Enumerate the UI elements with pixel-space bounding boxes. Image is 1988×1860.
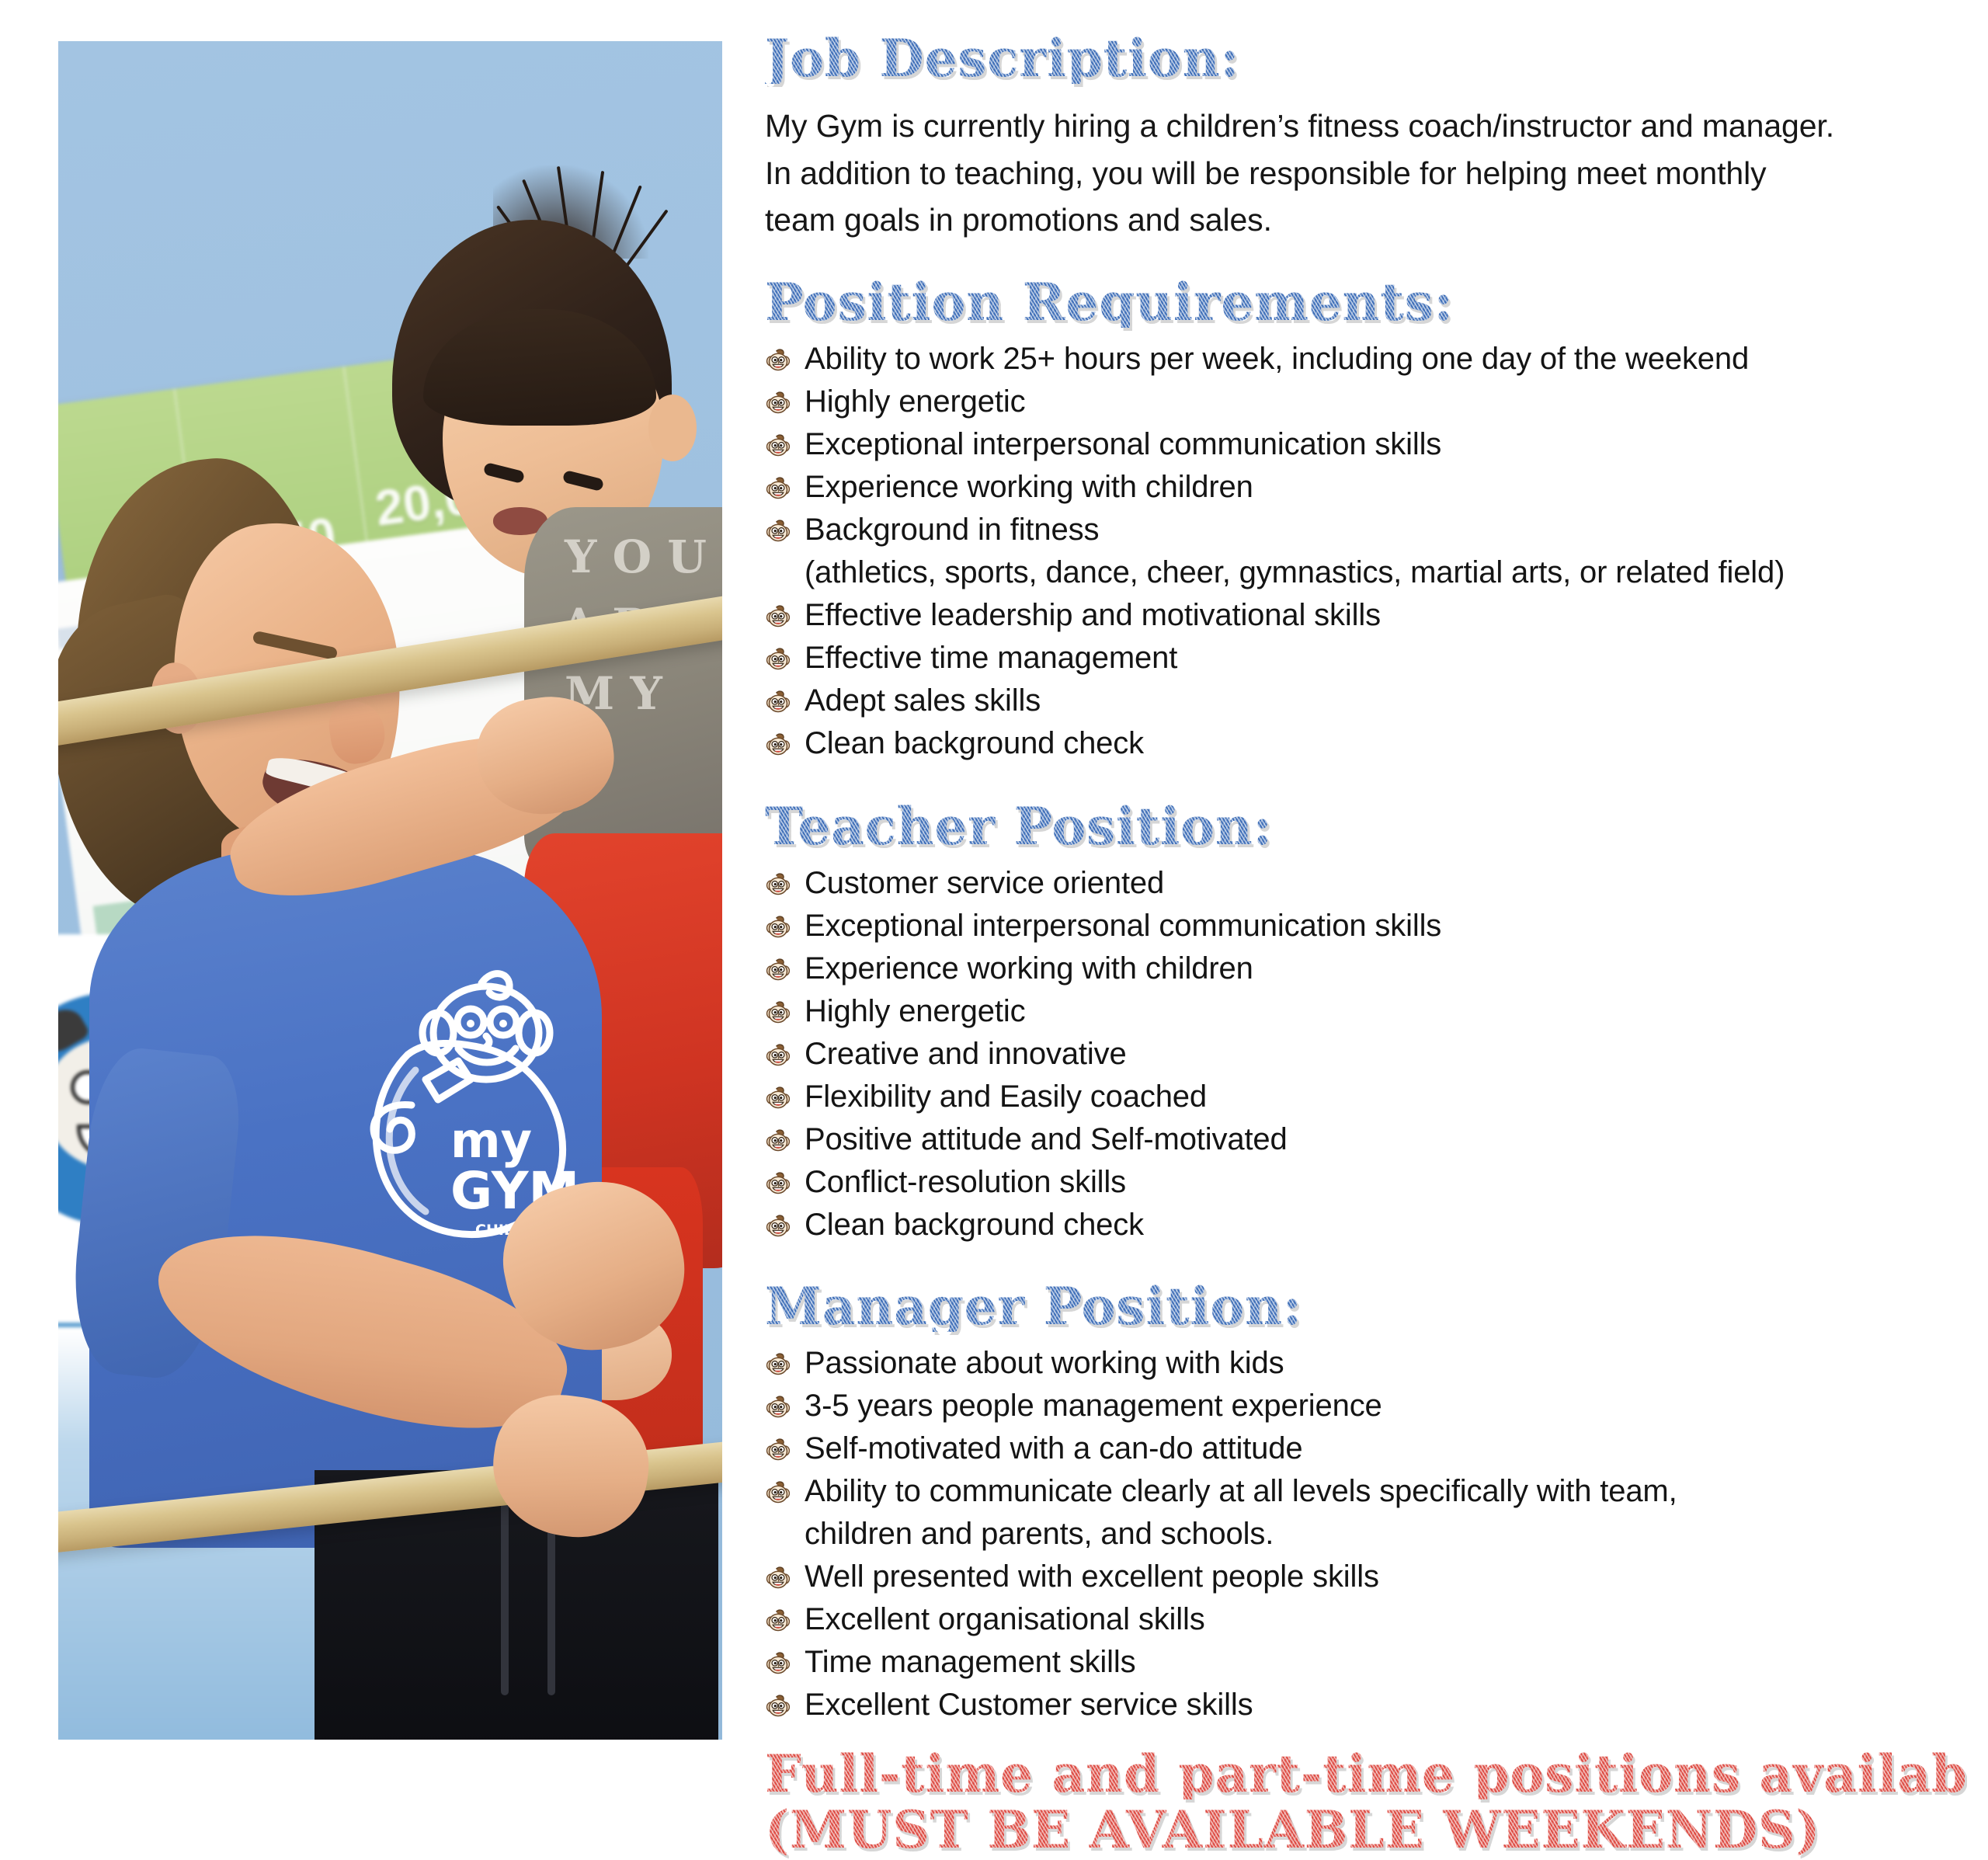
heading-job-description: Job Description: — [765, 33, 1965, 84]
list-item-label: Positive attitude and Self-motivated — [805, 1119, 1288, 1159]
list-item: Exceptional interpersonal communication … — [765, 424, 1965, 464]
monkey-mascot-icon — [765, 1604, 791, 1631]
intro-line-1: My Gym is currently hiring a children’s … — [765, 103, 1965, 150]
list-item-label: Ability to work 25+ hours per week, incl… — [805, 339, 1749, 379]
list-item: Self-motivated with a can-do attitude — [765, 1428, 1965, 1469]
list-item-label: Adept sales skills — [805, 680, 1041, 721]
list-teacher-position: Customer service orientedExceptional int… — [765, 863, 1965, 1245]
intro-line-2: In addition to teaching, you will be res… — [765, 150, 1965, 197]
list-item-label: Self-motivated with a can-do attitude — [805, 1428, 1302, 1469]
monkey-mascot-icon — [765, 344, 791, 370]
list-item: Experience working with children — [765, 948, 1965, 989]
list-item: Excellent organisational skills — [765, 1599, 1965, 1639]
list-item: Positive attitude and Self-motivated — [765, 1119, 1965, 1159]
monkey-mascot-icon — [765, 1348, 791, 1375]
list-position-requirements: Ability to work 25+ hours per week, incl… — [765, 339, 1965, 763]
list-item: Customer service oriented — [765, 863, 1965, 903]
list-item: Clean background check — [765, 723, 1965, 763]
list-item-label: Ability to communicate clearly at all le… — [805, 1471, 1677, 1511]
list-item: Passionate about working with kids — [765, 1343, 1965, 1383]
monkey-mascot-icon — [765, 1647, 791, 1674]
list-item: Clean background check — [765, 1205, 1965, 1245]
list-item: Effective leadership and motivational sk… — [765, 595, 1965, 635]
intro-line-3: team goals in promotions and sales. — [765, 196, 1965, 244]
heading-teacher-position: Teacher Position: — [765, 801, 1965, 852]
list-item-label: Passionate about working with kids — [805, 1343, 1284, 1383]
monkey-mascot-icon — [765, 1391, 791, 1417]
list-item-label: Excellent Customer service skills — [805, 1684, 1253, 1725]
list-item-label: Effective time management — [805, 638, 1177, 678]
monkey-mascot-icon — [765, 1039, 791, 1066]
heading-position-requirements: Position Requirements: — [765, 276, 1965, 328]
list-item: Ability to communicate clearly at all le… — [765, 1471, 1965, 1511]
list-item: Creative and innovative — [765, 1034, 1965, 1074]
list-item: Adept sales skills — [765, 680, 1965, 721]
list-item-label: Conflict-resolution skills — [805, 1162, 1126, 1202]
list-item-label: Highly energetic — [805, 381, 1025, 422]
monkey-mascot-icon — [765, 1434, 791, 1460]
monkey-mascot-icon — [765, 1167, 791, 1194]
list-item: Conflict-resolution skills — [765, 1162, 1965, 1202]
list-item-label: Excellent organisational skills — [805, 1599, 1205, 1639]
list-item: 3-5 years people management experience — [765, 1385, 1965, 1426]
list-item: Experience working with children — [765, 467, 1965, 507]
list-item-label: Effective leadership and motivational sk… — [805, 595, 1381, 635]
monkey-mascot-icon — [765, 429, 791, 456]
list-item-label: Time management skills — [805, 1642, 1135, 1682]
list-item-label: Highly energetic — [805, 991, 1025, 1031]
monkey-mascot-icon — [765, 1476, 791, 1503]
hero-photo: 1,540 instructors 20,000 participants ho… — [58, 41, 722, 1740]
list-item-label: Clean background check — [805, 1205, 1144, 1245]
job-posting-content: Job Description: My Gym is currently hir… — [765, 23, 1965, 1757]
list-item-label: Creative and innovative — [805, 1034, 1127, 1074]
list-item-label: Customer service oriented — [805, 863, 1164, 903]
monkey-mascot-icon — [765, 911, 791, 937]
footer-callout: Full-time and part-time positions availa… — [765, 1748, 1965, 1855]
list-item: Highly energetic — [765, 381, 1965, 422]
monkey-mascot-icon — [765, 686, 791, 712]
list-item-label: Flexibility and Easily coached — [805, 1076, 1207, 1117]
list-item: Background in fitness — [765, 509, 1965, 550]
monkey-mascot-icon — [765, 600, 791, 627]
monkey-mascot-icon — [765, 1125, 791, 1151]
list-item: Ability to work 25+ hours per week, incl… — [765, 339, 1965, 379]
monkey-mascot-icon — [765, 954, 791, 980]
monkey-mascot-icon — [765, 515, 791, 541]
footer-line-1: Full-time and part-time positions availa… — [765, 1748, 1965, 1799]
list-item: Excellent Customer service skills — [765, 1684, 1965, 1725]
list-item-label: 3-5 years people management experience — [805, 1385, 1382, 1426]
monkey-mascot-icon — [765, 1210, 791, 1236]
list-item-label: Well presented with excellent people ski… — [805, 1556, 1379, 1597]
list-item: Exceptional interpersonal communication … — [765, 906, 1965, 946]
list-item-label: Exceptional interpersonal communication … — [805, 906, 1441, 946]
monkey-mascot-icon — [765, 643, 791, 669]
monkey-mascot-icon — [765, 868, 791, 895]
job-description-paragraph: My Gym is currently hiring a children’s … — [765, 103, 1965, 244]
list-item: Highly energetic — [765, 991, 1965, 1031]
monkey-mascot-icon — [765, 472, 791, 499]
monkey-mascot-icon — [765, 1690, 791, 1716]
list-item-label: Background in fitness — [805, 509, 1099, 550]
list-item-label: Exceptional interpersonal communication … — [805, 424, 1441, 464]
list-item: Well presented with excellent people ski… — [765, 1556, 1965, 1597]
footer-line-2: (MUST BE AVAILABLE WEEKENDS) — [765, 1804, 1965, 1855]
monkey-mascot-icon — [765, 1562, 791, 1588]
monkey-mascot-icon — [765, 387, 791, 413]
monkey-mascot-icon — [765, 996, 791, 1023]
list-item: Effective time management — [765, 638, 1965, 678]
monkey-mascot-icon — [765, 1082, 791, 1108]
monkey-mascot-icon — [765, 728, 791, 755]
list-item: Time management skills — [765, 1642, 1965, 1682]
list-item-continuation: children and parents, and schools. — [765, 1514, 1965, 1554]
list-item-label: Experience working with children — [805, 948, 1253, 989]
heading-manager-position: Manager Position: — [765, 1281, 1965, 1332]
list-item-continuation: (athletics, sports, dance, cheer, gymnas… — [765, 552, 1965, 593]
flyer-page: 1,540 instructors 20,000 participants ho… — [0, 0, 1988, 1757]
list-item-label: Clean background check — [805, 723, 1144, 763]
list-item: Flexibility and Easily coached — [765, 1076, 1965, 1117]
list-manager-position: Passionate about working with kids3-5 ye… — [765, 1343, 1965, 1725]
child-ear — [648, 395, 697, 461]
list-item-label: Experience working with children — [805, 467, 1253, 507]
